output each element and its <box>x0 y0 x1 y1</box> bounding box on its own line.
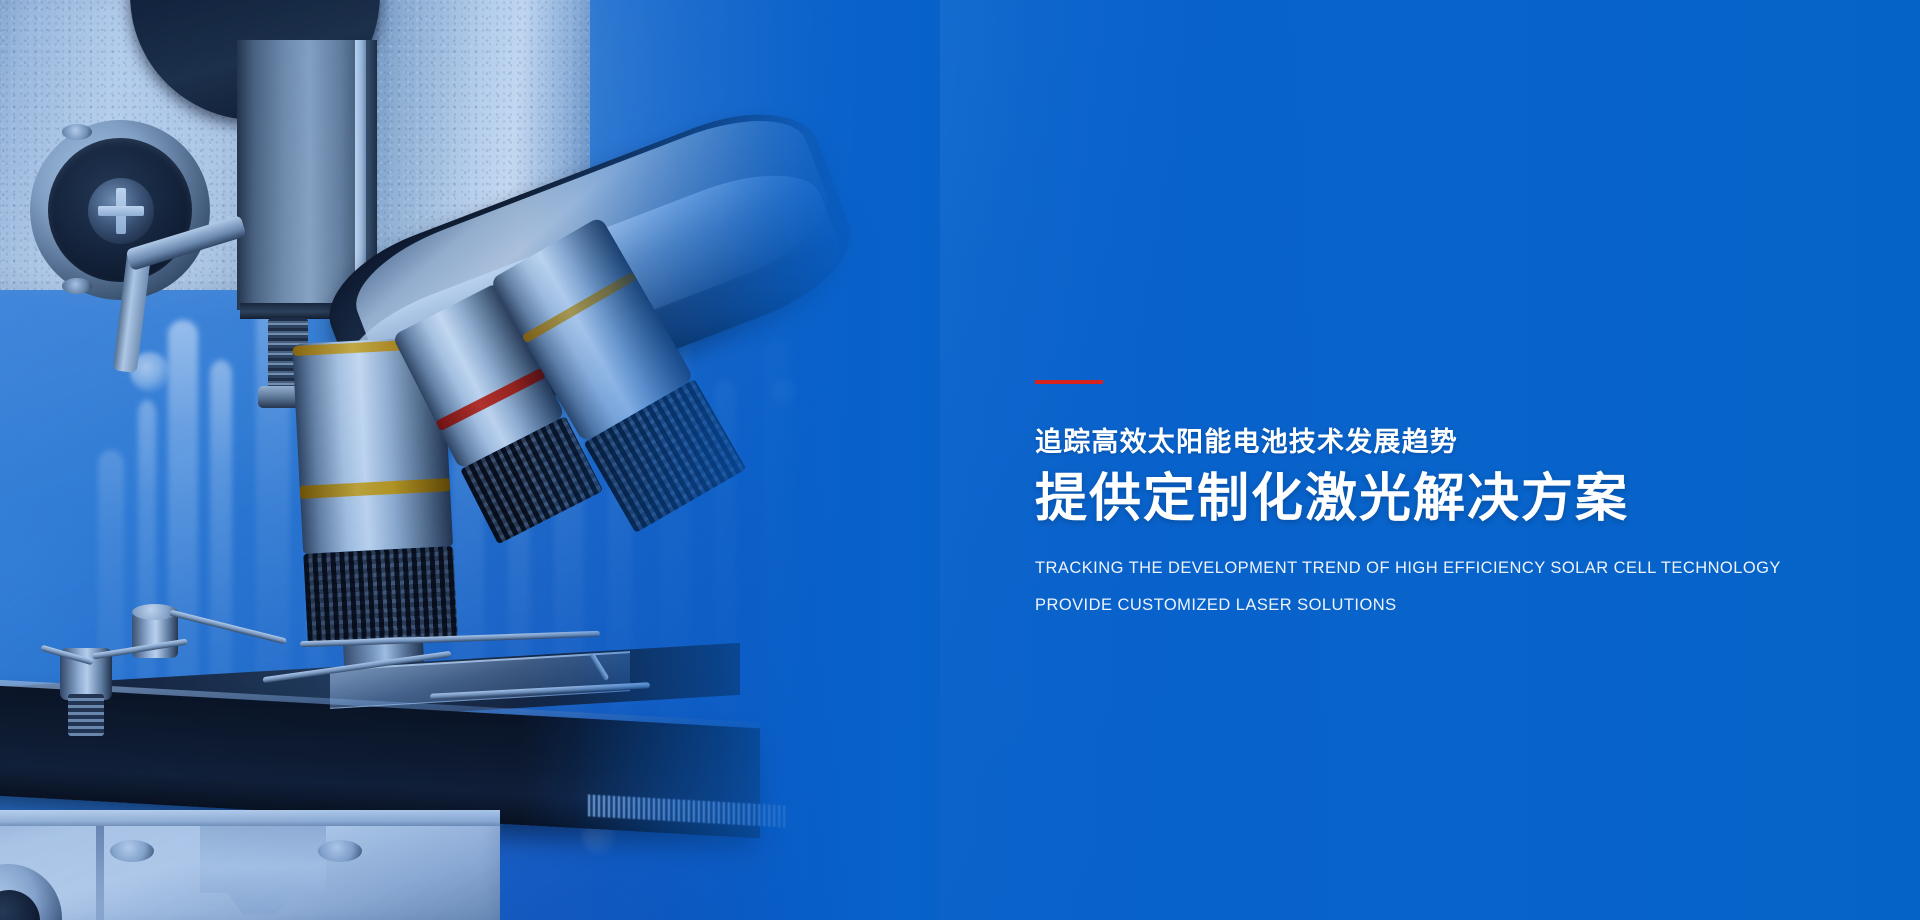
hero-subtitle-zh: 追踪高效太阳能电池技术发展趋势 <box>1035 428 1855 458</box>
hero-banner: 追踪高效太阳能电池技术发展趋势 提供定制化激光解决方案 TRACKING THE… <box>0 0 1920 920</box>
hero-english-line-2: PROVIDE CUSTOMIZED LASER SOLUTIONS <box>1035 597 1855 614</box>
accent-rule <box>1035 380 1103 384</box>
hero-title-zh: 提供定制化激光解决方案 <box>1035 470 1855 528</box>
hero-copy-block: 追踪高效太阳能电池技术发展趋势 提供定制化激光解决方案 TRACKING THE… <box>1035 380 1855 614</box>
hero-english-line-1: TRACKING THE DEVELOPMENT TREND OF HIGH E… <box>1035 560 1855 577</box>
